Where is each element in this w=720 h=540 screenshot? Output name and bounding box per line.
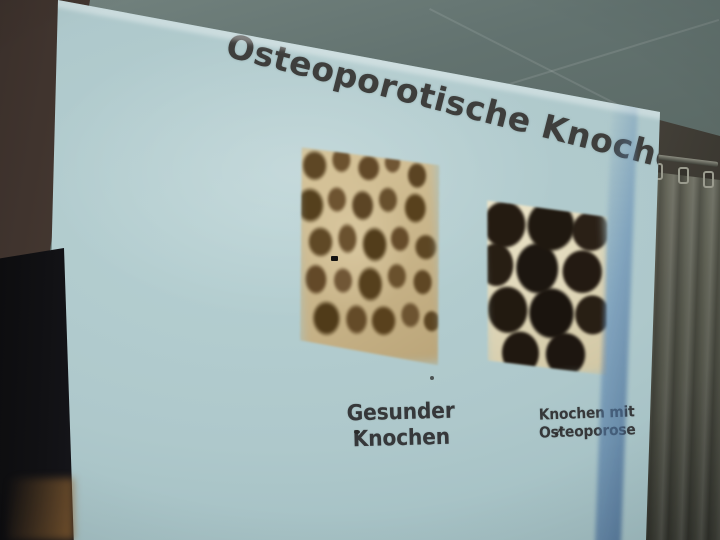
dust-speck bbox=[354, 430, 360, 434]
caption-line: Gesunder bbox=[340, 398, 462, 427]
caption-line: Knochen bbox=[340, 424, 462, 453]
slide-artifact-mark bbox=[331, 256, 338, 261]
healthy-bone-caption: Gesunder Knochen bbox=[340, 398, 463, 453]
healthy-bone-texture bbox=[290, 135, 449, 373]
osteoporotic-bone-image bbox=[475, 187, 617, 384]
panel-reflection bbox=[8, 478, 74, 540]
osteoporotic-bone-texture bbox=[475, 187, 617, 384]
curtain-ring bbox=[703, 171, 714, 188]
arrow-mark-icon bbox=[552, 426, 565, 437]
dust-speck bbox=[430, 376, 434, 380]
curtain-ring bbox=[678, 167, 689, 184]
projected-slide-photo: Osteoporotische Knochen Gesunder Knochen… bbox=[0, 0, 720, 540]
healthy-bone-image bbox=[290, 135, 449, 373]
